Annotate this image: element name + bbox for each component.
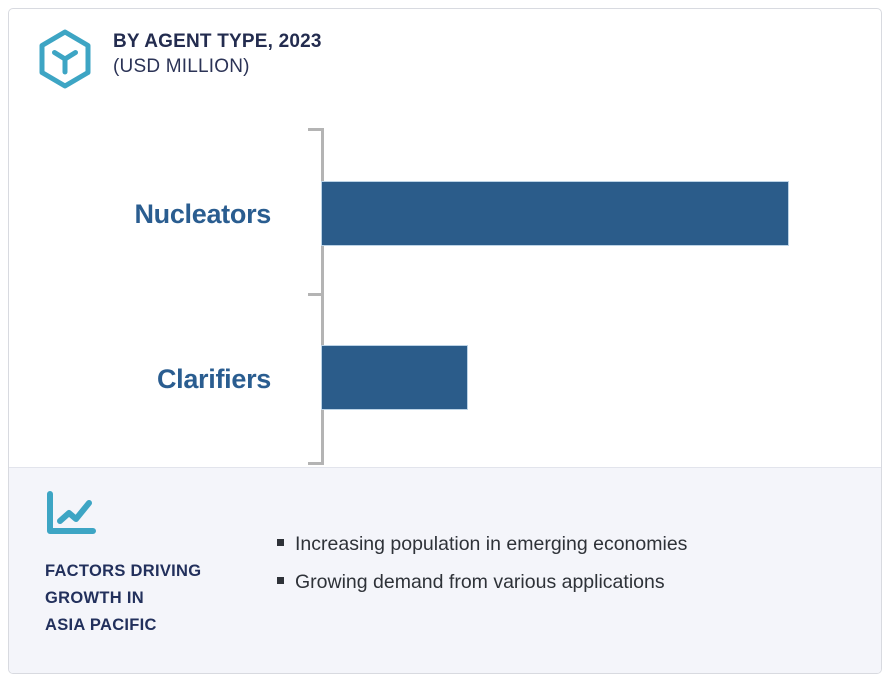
- bullet-square-icon: [277, 577, 284, 584]
- bar-nucleators[interactable]: [321, 181, 789, 246]
- list-item: Growing demand from various applications: [277, 568, 687, 596]
- bar-chart: Nucleators Clarifiers: [9, 9, 882, 469]
- list-item-label: Growing demand from various applications: [295, 568, 665, 596]
- bullet-square-icon: [277, 539, 284, 546]
- list-item-label: Increasing population in emerging econom…: [295, 530, 687, 558]
- list-item: Increasing population in emerging econom…: [277, 530, 687, 558]
- axis-tick-middle: [308, 293, 322, 296]
- line-chart-icon: [45, 490, 97, 536]
- category-axis-line: [321, 128, 324, 465]
- bar-label-clarifiers: Clarifiers: [157, 364, 271, 395]
- bar-clarifiers[interactable]: [321, 345, 468, 410]
- footer-heading: FACTORS DRIVING GROWTH IN ASIA PACIFIC: [45, 558, 260, 640]
- footer-heading-line-3: ASIA PACIFIC: [45, 612, 260, 639]
- footer-left-block: FACTORS DRIVING GROWTH IN ASIA PACIFIC: [45, 490, 260, 640]
- bar-label-nucleators: Nucleators: [134, 199, 271, 230]
- footer-panel: FACTORS DRIVING GROWTH IN ASIA PACIFIC I…: [9, 467, 882, 673]
- axis-tick-top: [308, 128, 322, 131]
- growth-factors-list: Increasing population in emerging econom…: [277, 530, 687, 607]
- footer-heading-line-2: GROWTH IN: [45, 585, 260, 612]
- footer-heading-line-1: FACTORS DRIVING: [45, 558, 260, 585]
- infographic-card: BY AGENT TYPE, 2023 (USD MILLION) Nuclea…: [8, 8, 882, 674]
- axis-tick-bottom: [308, 462, 322, 465]
